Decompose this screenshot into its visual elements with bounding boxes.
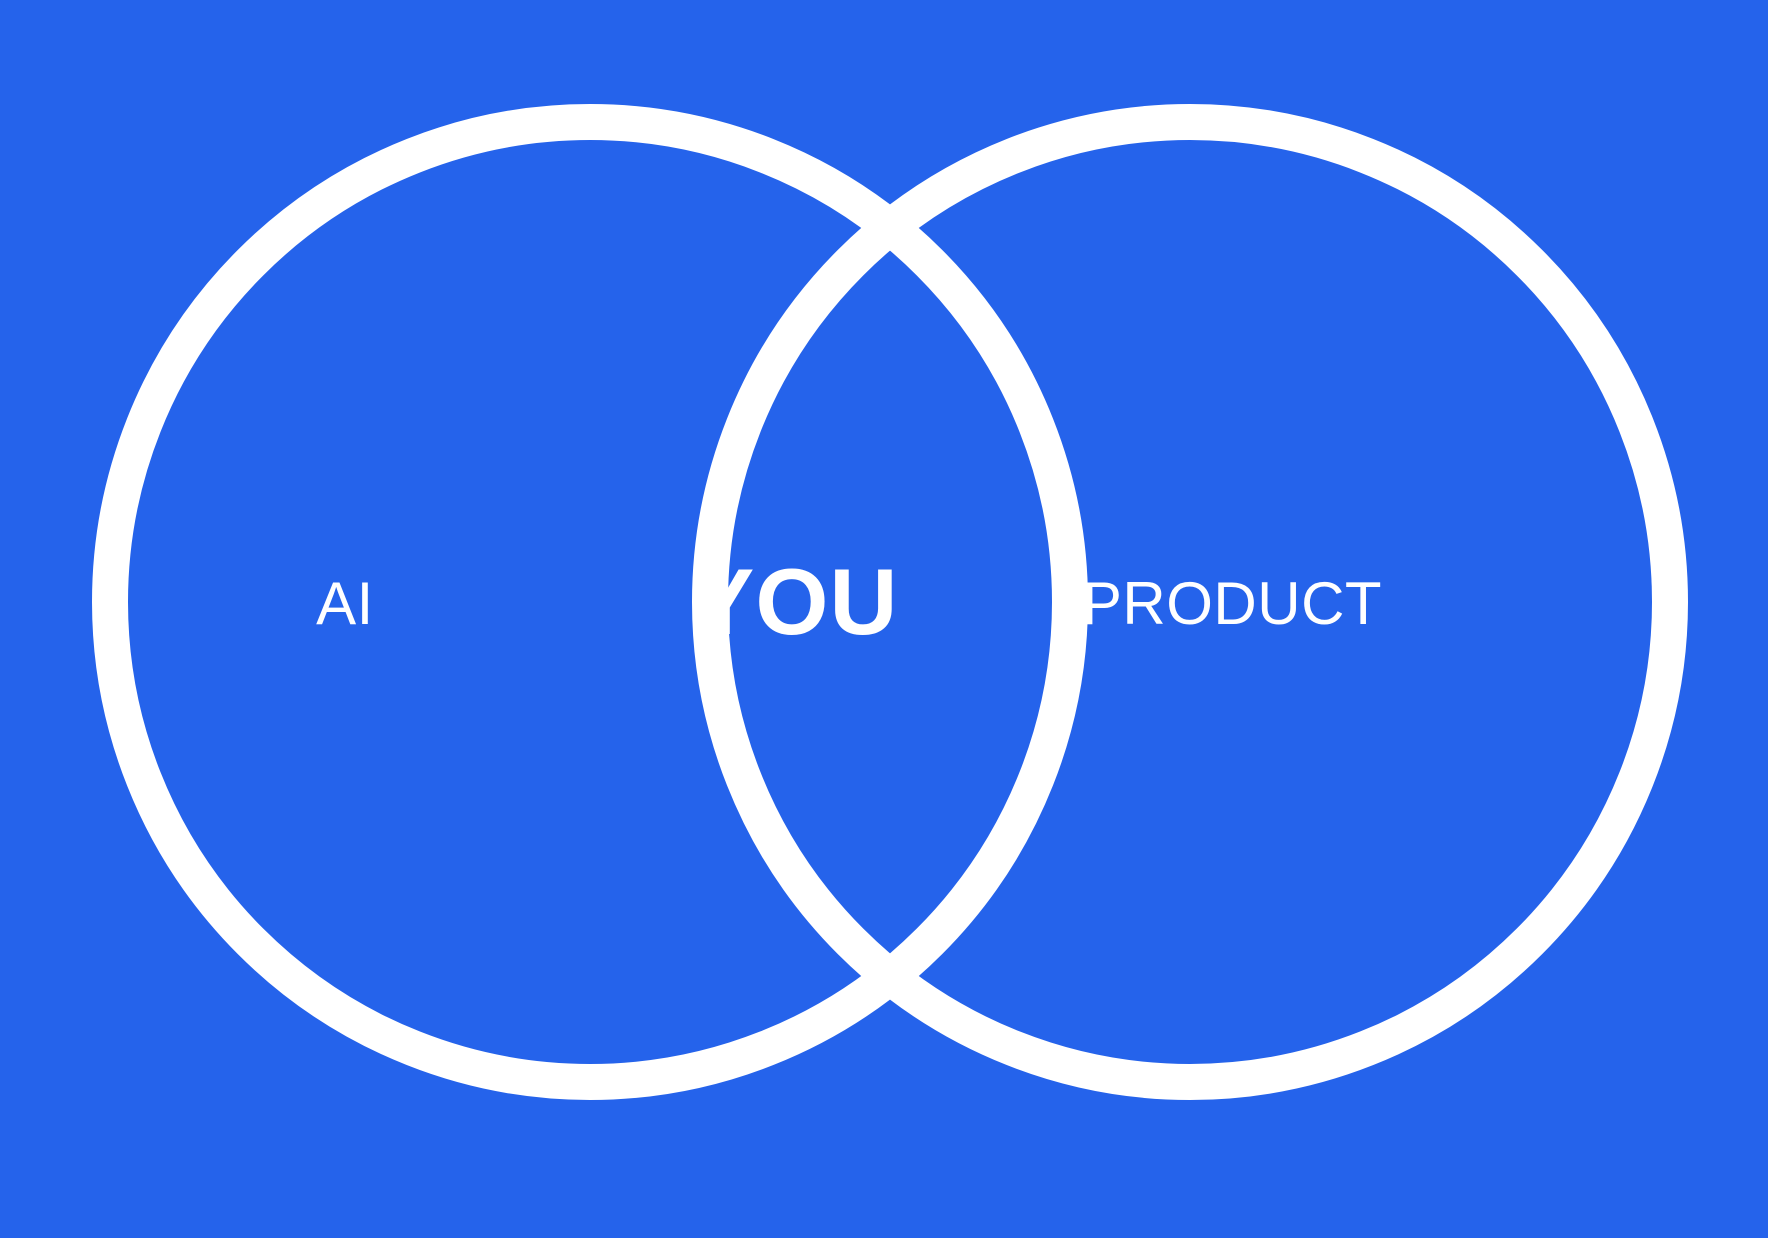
venn-label-left: AI (316, 574, 374, 634)
venn-label-right: PRODUCT (1082, 574, 1382, 634)
venn-label-intersection: YOU (692, 555, 899, 649)
venn-diagram-canvas: AI YOU PRODUCT (0, 0, 1768, 1238)
